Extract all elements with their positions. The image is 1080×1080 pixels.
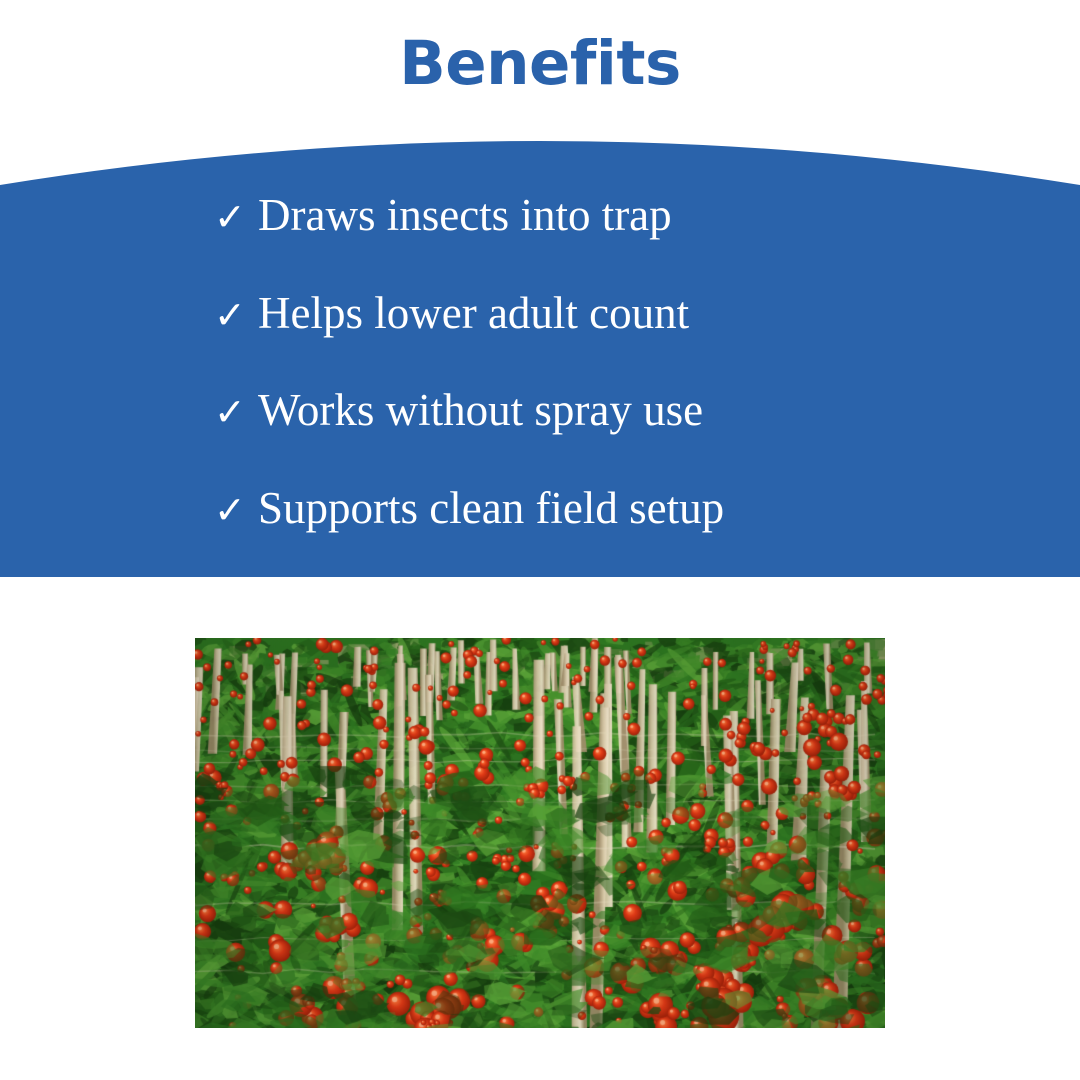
tomato-field-canvas <box>195 638 885 1028</box>
list-item: ✓ Works without spray use <box>214 388 703 433</box>
list-item: ✓ Draws insects into trap <box>214 193 672 238</box>
list-item-label: Supports clean field setup <box>258 486 724 531</box>
benefits-list: ✓ Draws insects into trap ✓ Helps lower … <box>0 105 1080 577</box>
check-icon: ✓ <box>214 491 258 529</box>
list-item: ✓ Supports clean field setup <box>214 486 724 531</box>
list-item: ✓ Helps lower adult count <box>214 291 689 336</box>
check-icon: ✓ <box>214 198 258 236</box>
benefits-infographic: Benefits ✓ Draws insects into trap ✓ Hel… <box>0 0 1080 1080</box>
list-item-label: Draws insects into trap <box>258 193 672 238</box>
page-title: Benefits <box>0 32 1080 96</box>
list-item-label: Helps lower adult count <box>258 291 689 336</box>
check-icon: ✓ <box>214 393 258 431</box>
check-icon: ✓ <box>214 296 258 334</box>
tomato-field-photo <box>195 638 885 1028</box>
benefits-banner: ✓ Draws insects into trap ✓ Helps lower … <box>0 105 1080 577</box>
list-item-label: Works without spray use <box>258 388 703 433</box>
